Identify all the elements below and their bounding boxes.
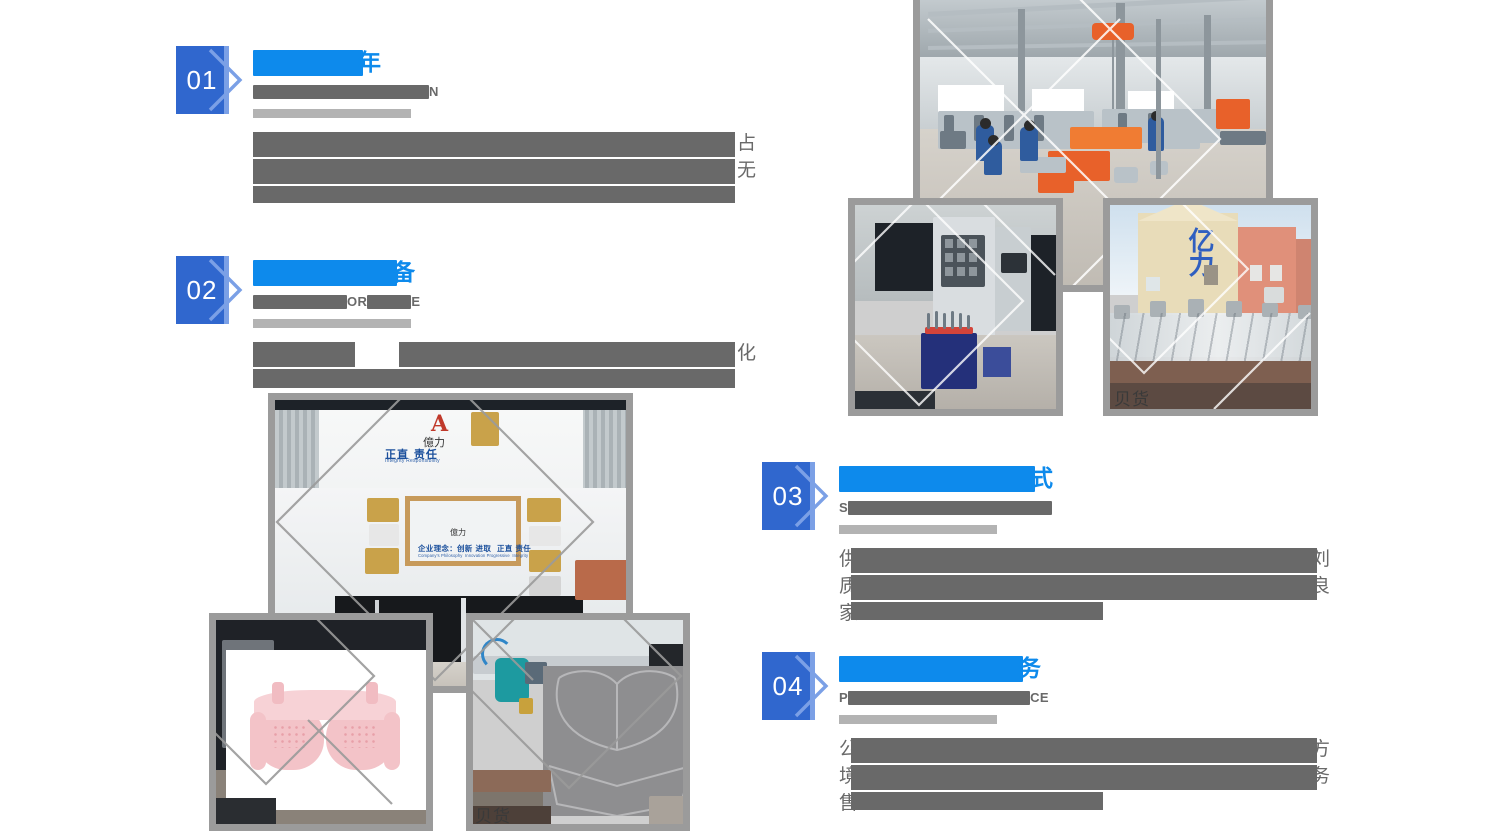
title-redaction [253,50,363,76]
subtitle-redaction [253,85,429,99]
body-visible-inline: 研发 [357,340,395,367]
body-visible-tail: 刘 [1311,546,1330,573]
body-line: 境 务 [839,763,1399,790]
feature-03-rule [839,525,997,534]
feature-01-number: 01 [176,46,228,114]
body-line: 公 方 [839,736,1399,763]
feature-03-subtitle-head: S [839,501,848,515]
badge-accent-strip [224,46,229,114]
subtitle-redaction [367,295,411,309]
feature-04-number: 04 [762,652,814,720]
feature-02-badge: 02 [176,256,228,324]
title-redaction [253,260,397,286]
body-line: 无 [253,157,813,184]
body-redaction [253,132,735,157]
photo-cnc [848,198,1063,416]
body-visible-tail: 务 [1311,763,1330,790]
photo-fabric-cutter: 贝货 [466,613,690,831]
body-visible-tail: 良 [1311,573,1330,600]
title-redaction [839,466,1035,492]
fabric-cutter-scene: 贝货 [473,620,683,824]
title-redaction [839,656,1023,682]
cnc-scene [855,205,1056,409]
overhead-crane-icon [1092,23,1134,40]
feature-01-body: 占 无 [253,130,813,211]
feature-02-subtitle-mid: OR [347,295,367,309]
feature-03-title: 式 [839,462,1053,496]
feature-04-body: 公 方 境 务 售 [839,736,1399,817]
badge-accent-strip [810,462,815,530]
feature-01-rule [253,109,411,118]
body-line: 质 良 [839,573,1399,600]
body-visible-tail: 化 [737,340,756,367]
product-bra-scene [216,620,426,824]
body-visible-tail: 无 [737,157,756,184]
page-root: 亿力 贝货 [0,0,1500,840]
body-redaction [253,186,735,203]
feature-02-subtitle: OR E [253,292,420,312]
subtitle-redaction [848,691,1030,705]
photo-shipping: 亿力 贝货 [1103,198,1318,416]
body-line: 供 刘 [839,546,1399,573]
feature-01-badge: 01 [176,46,228,114]
feature-04-title-tail: 务 [1018,656,1041,682]
body-redaction [851,602,1103,620]
shipping-scene: 亿力 贝货 [1110,205,1311,409]
badge-accent-strip [224,256,229,324]
feature-03-title-tail: 式 [1030,466,1053,492]
feature-03-headtext: 式 S [839,462,1053,534]
feature-03-badge: 03 [762,462,814,530]
body-line [253,367,813,394]
feature-01-title-tail: 年 [358,50,381,76]
feature-01-subtitle-tail: N [429,85,439,99]
feature-04-subtitle: P CE [839,688,1049,708]
body-visible-tail: 方 [1311,736,1330,763]
body-line: 占 [253,130,813,157]
feature-03-subtitle: S [839,498,1053,518]
feature-01-subtitle: N [253,82,439,102]
feature-01-headtext: 年 N [253,46,439,118]
feature-02-rule [253,319,411,328]
feature-03-number: 03 [762,462,814,530]
body-visible-tail: 占 [737,130,756,157]
feature-02-title-tail: 备 [392,260,415,286]
body-redaction [851,548,1317,573]
body-redaction [253,342,355,367]
body-redaction [253,369,735,388]
body-redaction [851,738,1317,763]
shipping-ground-text: 贝货 [1114,385,1150,409]
body-line [253,184,813,211]
body-line: 家 [839,600,1399,627]
tool-cart [921,333,977,389]
body-line: 研发 化 [253,340,813,367]
feature-04-rule [839,715,997,724]
feature-04-subtitle-tail: CE [1030,691,1049,705]
fabric-ground-text: 贝货 [475,802,511,824]
subtitle-redaction [848,501,1052,515]
honor-banner-en: Integrity Responsibility [385,458,440,464]
body-redaction [851,575,1317,600]
feature-02-body: 研发 化 [253,340,813,394]
feature-04-badge: 04 [762,652,814,720]
feature-02-subtitle-tail: E [411,295,420,309]
subtitle-redaction [253,295,347,309]
body-line: 售 [839,790,1399,817]
company-logo-mark: A [431,414,448,434]
feature-01-title: 年 [253,46,439,80]
feature-04-headtext: 务 P CE [839,652,1049,724]
feature-04-title: 务 [839,652,1049,686]
photo-product-bra [209,613,433,831]
feature-02-title: 备 [253,256,420,290]
philosophy-board: 億力 企业理念：创新 进取 正直 责任 Company's Philosophy… [405,496,521,566]
body-redaction [851,792,1103,810]
body-redaction [399,342,735,367]
feature-02-headtext: 备 OR E [253,256,420,328]
body-redaction [851,765,1317,790]
feature-02-number: 02 [176,256,228,324]
feature-03-body: 供 刘 质 良 家 [839,546,1399,627]
feature-04-subtitle-head: P [839,691,848,705]
body-redaction [253,159,735,184]
badge-accent-strip [810,652,815,720]
